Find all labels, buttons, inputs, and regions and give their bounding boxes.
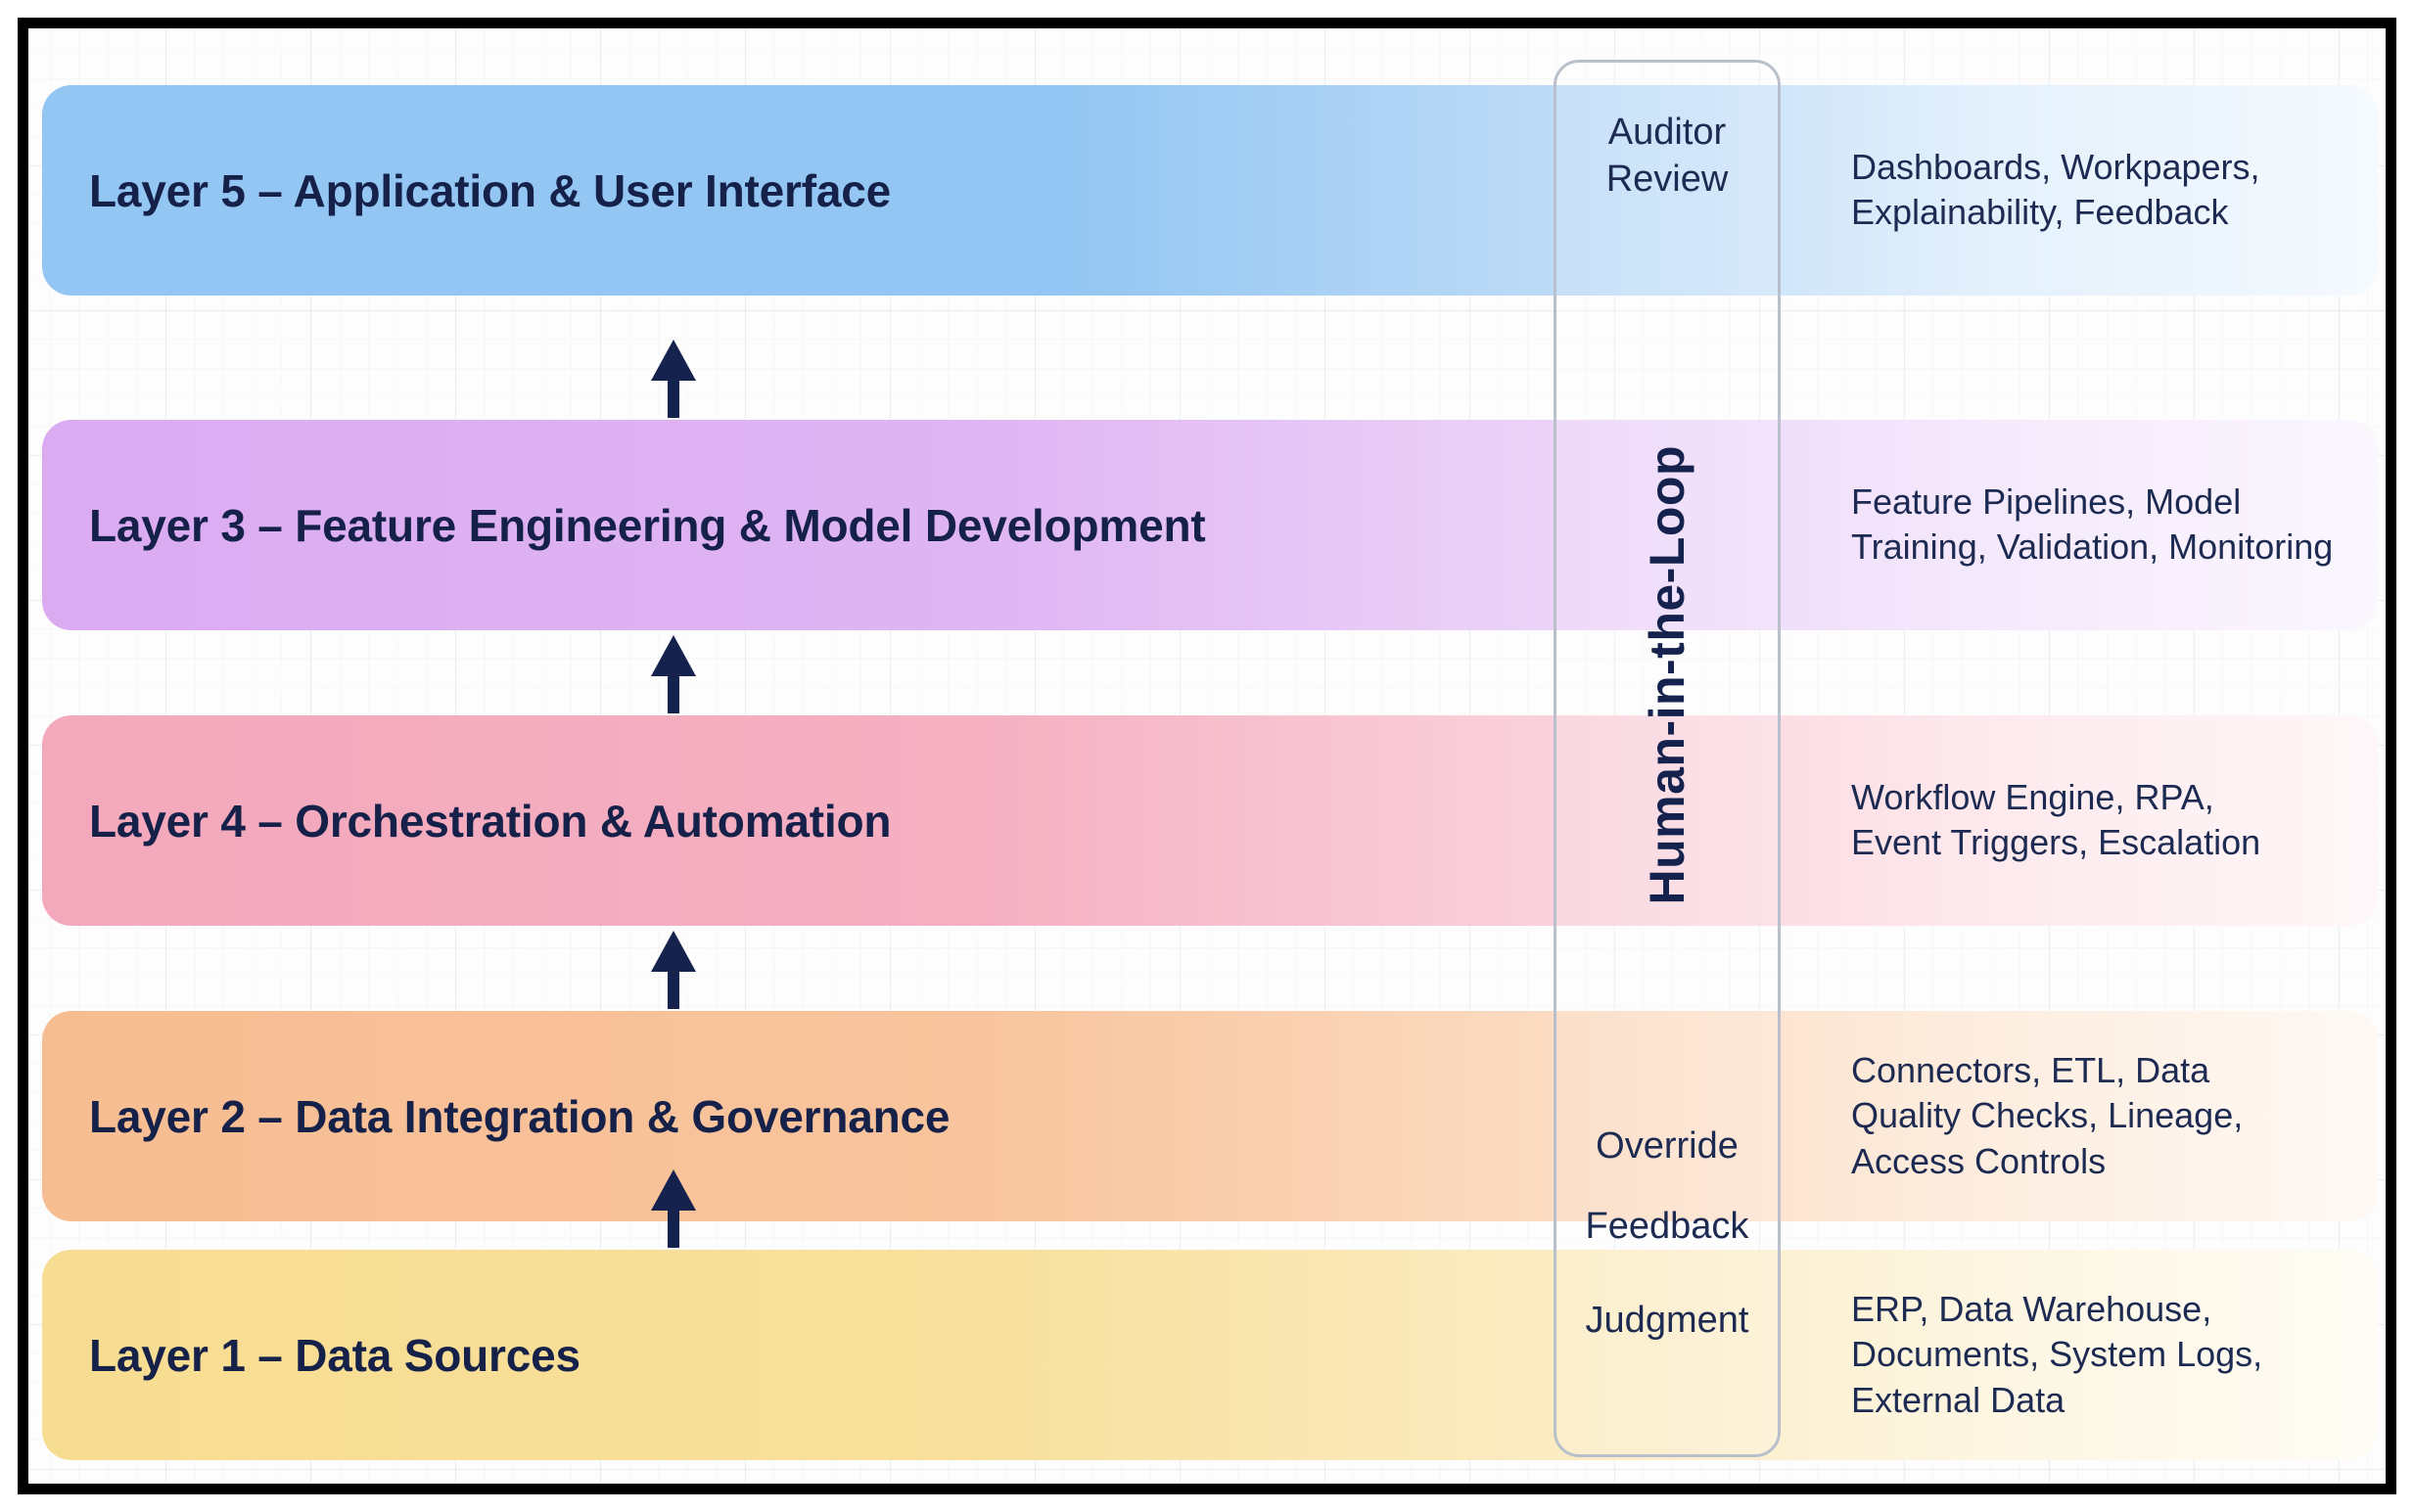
- diagram-stage: Layer 5 – Application & User Interface D…: [28, 28, 2386, 1484]
- layer-band-3-title: Layer 3 – Feature Engineering & Model De…: [89, 499, 1206, 552]
- layer-band-3-detail-line2: Training, Validation, Monitoring: [1851, 526, 2396, 572]
- layer-band-4-title: Layer 4 – Orchestration & Automation: [89, 795, 891, 848]
- layer-band-4-detail: Workflow Engine, RPA, Event Triggers, Es…: [1851, 775, 2396, 867]
- hitl-auditor-review-line2: Review: [1556, 157, 1778, 204]
- layer-band-1[interactable]: Layer 1 – Data Sources ERP, Data Warehou…: [42, 1250, 2378, 1460]
- hitl-vertical-title: Human-in-the-Loop: [1556, 254, 1778, 1096]
- figure-frame: Layer 5 – Application & User Interface D…: [18, 18, 2396, 1494]
- flow-arrow-layer2-to-layer4: [651, 931, 696, 1009]
- layer-band-1-detail-line1: ERP, Data Warehouse,: [1851, 1286, 2396, 1332]
- human-in-the-loop-panel[interactable]: Auditor Review Human-in-the-Loop Overrid…: [1554, 60, 1781, 1457]
- layer-band-3-detail-line1: Feature Pipelines, Model: [1851, 480, 2396, 526]
- layer-band-2-detail: Connectors, ETL, Data Quality Checks, Li…: [1851, 1047, 2396, 1184]
- layer-band-5-detail: Dashboards, Workpapers, Explainability, …: [1851, 145, 2396, 237]
- arrow-shaft: [668, 371, 679, 418]
- arrow-shaft: [668, 666, 679, 713]
- arrow-shaft: [668, 1201, 679, 1248]
- layer-band-1-title: Layer 1 – Data Sources: [89, 1329, 580, 1382]
- hitl-caption-override: Override: [1556, 1123, 1778, 1170]
- layer-band-2-detail-line1: Connectors, ETL, Data: [1851, 1047, 2396, 1093]
- hitl-caption-judgment: Judgment: [1556, 1298, 1778, 1345]
- layer-band-2-detail-line2: Quality Checks, Lineage,: [1851, 1093, 2396, 1139]
- layer-band-2-title: Layer 2 – Data Integration & Governance: [89, 1090, 950, 1143]
- layer-band-2-detail-line3: Access Controls: [1851, 1139, 2396, 1185]
- layer-band-3-detail: Feature Pipelines, Model Training, Valid…: [1851, 480, 2396, 572]
- layer-band-5-title: Layer 5 – Application & User Interface: [89, 164, 891, 217]
- layer-band-4-detail-line1: Workflow Engine, RPA,: [1851, 775, 2396, 821]
- layer-band-3[interactable]: Layer 3 – Feature Engineering & Model De…: [42, 420, 2378, 630]
- layer-band-4[interactable]: Layer 4 – Orchestration & Automation Wor…: [42, 715, 2378, 926]
- flow-arrow-layer1-to-layer2: [651, 1169, 696, 1248]
- layer-band-4-detail-line2: Event Triggers, Escalation: [1851, 821, 2396, 867]
- layer-band-5-detail-line2: Explainability, Feedback: [1851, 191, 2396, 237]
- arrow-shaft: [668, 962, 679, 1009]
- layer-band-1-detail-line3: External Data: [1851, 1378, 2396, 1424]
- hitl-auditor-review-line1: Auditor: [1556, 110, 1778, 157]
- layer-band-5[interactable]: Layer 5 – Application & User Interface D…: [42, 85, 2378, 296]
- layer-band-1-detail-line2: Documents, System Logs,: [1851, 1332, 2396, 1378]
- hitl-caption-auditor-review: Auditor Review: [1556, 110, 1778, 203]
- flow-arrow-layer3-to-layer5: [651, 340, 696, 418]
- layer-band-1-detail: ERP, Data Warehouse, Documents, System L…: [1851, 1286, 2396, 1423]
- hitl-vertical-title-text: Human-in-the-Loop: [1639, 445, 1695, 905]
- layer-band-2[interactable]: Layer 2 – Data Integration & Governance …: [42, 1011, 2378, 1221]
- layer-band-5-detail-line1: Dashboards, Workpapers,: [1851, 145, 2396, 191]
- hitl-caption-feedback: Feedback: [1556, 1204, 1778, 1251]
- flow-arrow-layer4-to-layer3: [651, 635, 696, 713]
